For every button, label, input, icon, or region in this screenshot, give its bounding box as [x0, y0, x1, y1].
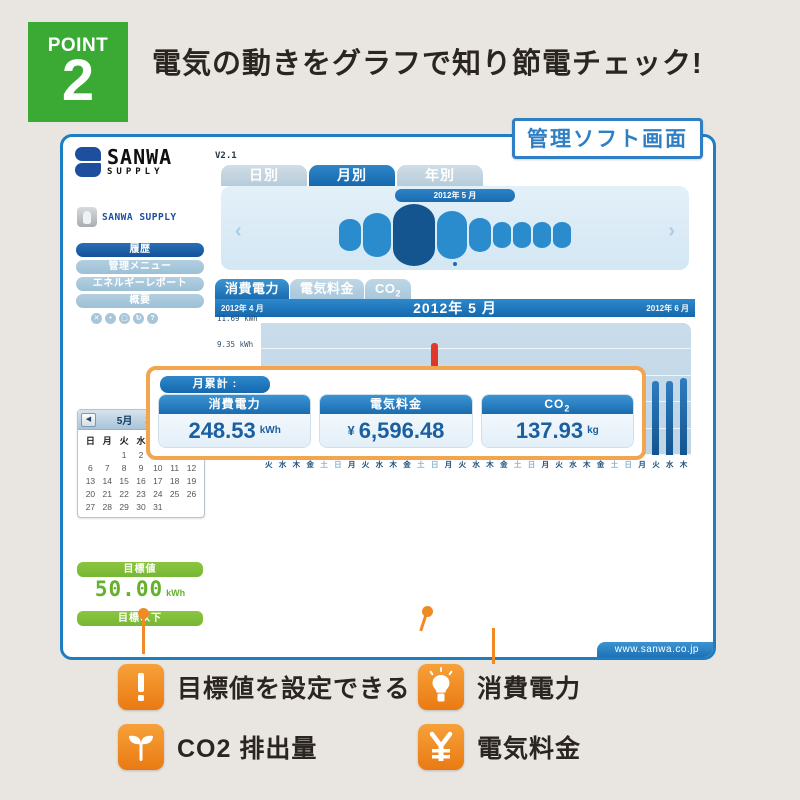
calendar-day-cell[interactable]: 17 — [149, 474, 166, 487]
refresh-icon[interactable]: ↻ — [133, 313, 144, 324]
connector-dot-goal — [138, 608, 149, 619]
graph-metric-tabs: 消費電力 電気料金 CO2 — [215, 279, 695, 299]
summary-cards: 消費電力 248.53 kWh 電気料金 ¥ 6,596.48 CO2 137.… — [158, 394, 634, 448]
summary-card-co2-body: 137.93 kg — [482, 414, 633, 447]
legend-row-1: 目標値を設定できる 消費電力 — [118, 664, 688, 710]
tab-electricity-cost[interactable]: 電気料金 — [290, 279, 364, 299]
summary-card-cost: 電気料金 ¥ 6,596.48 — [319, 394, 472, 448]
graph-month-header: 2012年 4 月 2012年 5 月 2012年 6 月 — [215, 299, 695, 317]
monthly-summary-panel: 月累計 : 消費電力 248.53 kWh 電気料金 ¥ 6,596.48 CO… — [146, 366, 646, 460]
calendar-day-cell[interactable]: 11 — [166, 461, 183, 474]
legend-row-2: CO2 排出量 電気料金 — [118, 724, 688, 770]
chart-x-tick-label: 金 — [306, 459, 313, 473]
chart-x-tick-label: 火 — [652, 459, 659, 473]
chart-x-tick-label: 日 — [625, 459, 632, 473]
legend-label-cost: 電気料金 — [477, 729, 581, 765]
legend-item-goal: 目標値を設定できる — [118, 664, 418, 710]
chart-x-tick-label: 水 — [569, 459, 576, 473]
tab-monthly[interactable]: 月別 — [309, 165, 395, 186]
month-blob[interactable] — [469, 218, 491, 252]
legend-item-cost: 電気料金 — [418, 724, 688, 770]
calendar-day-cell[interactable]: 9 — [133, 461, 150, 474]
yen-icon: ¥ — [348, 423, 355, 438]
settings-icon[interactable]: • — [105, 313, 116, 324]
graph-prev-month[interactable]: 2012年 4 月 — [221, 303, 264, 314]
app-version: V2.1 — [215, 151, 237, 161]
summary-power-unit: kWh — [260, 425, 281, 436]
chart-x-tick-label: 土 — [320, 459, 327, 473]
sidebar-item-energy-report[interactable]: エネルギーレポート — [76, 277, 204, 291]
sidebar-item-overview[interactable]: 概要 — [76, 294, 204, 308]
calendar-day-cell[interactable]: 13 — [82, 474, 99, 487]
calendar-day-cell[interactable]: 15 — [116, 474, 133, 487]
brand-name: SANWA — [107, 147, 172, 167]
calendar-day-cell[interactable]: 18 — [166, 474, 183, 487]
selected-month-pill: 2012年 5 月 — [395, 189, 515, 202]
sidebar-item-admin-menu[interactable]: 管理メニュー — [76, 260, 204, 274]
chart-x-axis: 火水木金土日月火水木金土日月火水木金土日月火水木金土日月火水木 — [261, 459, 691, 473]
summary-card-cost-title: 電気料金 — [320, 395, 471, 414]
calendar-day-cell[interactable]: 10 — [149, 461, 166, 474]
page-title: 電気の動きをグラフで知り節電チェック! — [152, 40, 703, 82]
point-badge-number: 2 — [28, 53, 128, 108]
calendar-day-cell[interactable]: 25 — [166, 487, 183, 500]
calendar-day-cell[interactable]: 29 — [116, 500, 133, 513]
month-blob-row[interactable] — [221, 204, 689, 266]
calendar-day-cell[interactable]: 21 — [99, 487, 116, 500]
chart-x-tick-label: 木 — [293, 459, 300, 473]
calendar-day-cell[interactable]: 14 — [99, 474, 116, 487]
sidebar-nav: 履歴 管理メニュー エネルギーレポート 概要 — [76, 243, 204, 311]
calendar-day-cell[interactable]: 31 — [149, 500, 166, 513]
calendar-week-row: 20212223242526 — [82, 487, 200, 500]
month-blob[interactable] — [553, 222, 571, 248]
chart-bar[interactable] — [666, 381, 673, 455]
chart-x-tick-label: 月 — [445, 459, 452, 473]
calendar-day-cell — [82, 448, 99, 461]
graph-current-month: 2012年 5 月 — [413, 298, 497, 318]
chart-x-tick-label: 日 — [431, 459, 438, 473]
calendar-day-cell[interactable]: 6 — [82, 461, 99, 474]
calendar-day-cell[interactable]: 8 — [116, 461, 133, 474]
summary-card-power: 消費電力 248.53 kWh — [158, 394, 311, 448]
software-screen-badge: 管理ソフト画面 — [512, 118, 703, 159]
calendar-prev-button[interactable]: ◀ — [81, 413, 96, 427]
chart-x-tick-label: 木 — [389, 459, 396, 473]
legend-item-power: 消費電力 — [418, 664, 688, 710]
chart-x-tick-label: 月 — [542, 459, 549, 473]
legend-label-co2: CO2 排出量 — [177, 729, 317, 765]
chart-x-tick-label: 火 — [362, 459, 369, 473]
selected-month-dot — [453, 262, 457, 266]
calendar-day-cell — [166, 500, 183, 513]
calendar-day-cell[interactable]: 1 — [116, 448, 133, 461]
sanwa-logo: SANWA SUPPLY — [75, 147, 215, 177]
summary-card-co2: CO2 137.93 kg — [481, 394, 634, 448]
chart-x-tick-label: 水 — [279, 459, 286, 473]
calendar-day-cell — [99, 448, 116, 461]
user-account: SANWA SUPPLY — [77, 207, 177, 227]
calendar-week-row: 2728293031 — [82, 500, 200, 513]
calendar-day-cell[interactable]: 30 — [133, 500, 150, 513]
chart-bar[interactable] — [680, 378, 687, 455]
summary-tag: 月累計 : — [160, 376, 270, 393]
calendar-weekday: 月 — [99, 433, 116, 448]
calendar-day-cell[interactable]: 23 — [133, 487, 150, 500]
chart-x-tick-label: 金 — [403, 459, 410, 473]
month-blob[interactable] — [493, 222, 511, 248]
calendar-day-cell — [183, 500, 200, 513]
chart-bar[interactable] — [652, 381, 659, 455]
point-badge: POINT 2 — [28, 22, 128, 122]
chart-x-tick-label: 月 — [638, 459, 645, 473]
chart-x-tick-label: 金 — [597, 459, 604, 473]
summary-co2-unit: kg — [587, 425, 599, 436]
window-icon[interactable]: ▢ — [119, 313, 130, 324]
chart-x-tick-label: 日 — [334, 459, 341, 473]
chart-x-tick-label: 火 — [459, 459, 466, 473]
period-tabs: 日別 月別 年別 — [221, 165, 485, 186]
chart-y-tick-label: 11.69 kWh — [217, 314, 258, 323]
month-blob[interactable] — [533, 222, 551, 248]
chart-x-tick-label: 金 — [500, 459, 507, 473]
calendar-week-row: 6789101112 — [82, 461, 200, 474]
summary-card-cost-body: ¥ 6,596.48 — [320, 414, 471, 447]
month-blob[interactable] — [513, 222, 531, 248]
calendar-day-cell[interactable]: 20 — [82, 487, 99, 500]
goal-unit: kWh — [166, 588, 185, 598]
calendar-week-row: 13141516171819 — [82, 474, 200, 487]
sprout-icon — [118, 724, 164, 770]
calendar-month: 5月 — [117, 412, 133, 427]
chart-x-tick-label: 土 — [514, 459, 521, 473]
calendar-day-cell[interactable]: 28 — [99, 500, 116, 513]
yen-icon — [418, 724, 464, 770]
tab-yearly[interactable]: 年別 — [397, 165, 483, 186]
tab-daily[interactable]: 日別 — [221, 165, 307, 186]
calendar-day-cell[interactable]: 26 — [183, 487, 200, 500]
calendar-weekday: 火 — [116, 433, 133, 448]
goal-value-row: 50.00 kWh — [77, 577, 203, 611]
chart-x-tick-label: 水 — [666, 459, 673, 473]
chart-x-tick-label: 水 — [376, 459, 383, 473]
graph-next-month[interactable]: 2012年 6 月 — [646, 303, 689, 314]
summary-card-co2-title: CO2 — [482, 395, 633, 414]
exclamation-icon — [118, 664, 164, 710]
calendar-day-cell[interactable]: 22 — [116, 487, 133, 500]
close-icon[interactable]: ✕ — [91, 313, 102, 324]
connector-line-power-2 — [492, 628, 495, 664]
help-icon[interactable]: ? — [147, 313, 158, 324]
legend-item-co2: CO2 排出量 — [118, 724, 418, 770]
chart-x-tick-label: 木 — [680, 459, 687, 473]
calendar-day-cell[interactable]: 12 — [183, 461, 200, 474]
calendar-day-cell[interactable]: 16 — [133, 474, 150, 487]
chart-x-tick-label: 火 — [265, 459, 272, 473]
chart-y-tick-label: 9.35 kWh — [217, 340, 253, 349]
chart-x-tick-label: 火 — [555, 459, 562, 473]
sidebar-item-history[interactable]: 履歴 — [76, 243, 204, 257]
chart-x-tick-label: 日 — [528, 459, 535, 473]
summary-co2-value: 137.93 — [516, 418, 583, 444]
summary-cost-value: 6,596.48 — [359, 418, 445, 444]
goal-title: 目標値 — [77, 562, 203, 577]
month-blob[interactable] — [339, 219, 361, 251]
tab-co2[interactable]: CO2 — [365, 279, 411, 299]
user-name: SANWA SUPPLY — [102, 212, 177, 223]
summary-power-value: 248.53 — [188, 418, 255, 444]
chart-x-tick-label: 木 — [486, 459, 493, 473]
calendar-weekday: 日 — [82, 433, 99, 448]
user-avatar-icon — [77, 207, 97, 227]
month-blob[interactable] — [437, 211, 467, 259]
chart-x-tick-label: 土 — [417, 459, 424, 473]
chart-x-tick-label: 月 — [348, 459, 355, 473]
calendar-day-cell[interactable]: 19 — [183, 474, 200, 487]
lightbulb-icon — [418, 664, 464, 710]
calendar-day-cell[interactable]: 24 — [149, 487, 166, 500]
calendar-day-cell[interactable]: 7 — [99, 461, 116, 474]
summary-card-power-title: 消費電力 — [159, 395, 310, 414]
tab-power-consumption[interactable]: 消費電力 — [215, 279, 289, 299]
sanwa-logo-mark — [75, 147, 102, 177]
calendar-day-cell[interactable]: 27 — [82, 500, 99, 513]
chart-x-tick-label: 木 — [583, 459, 590, 473]
summary-card-power-body: 248.53 kWh — [159, 414, 310, 447]
goal-value: 50.00 — [95, 577, 163, 601]
connector-dot-power — [422, 606, 433, 617]
legend-label-power: 消費電力 — [477, 669, 581, 705]
footer-url[interactable]: www.sanwa.co.jp — [597, 642, 713, 657]
legend-label-goal: 目標値を設定できる — [177, 669, 411, 705]
month-selector[interactable]: 2012年 5 月 ‹ › — [221, 186, 689, 270]
legend: 目標値を設定できる 消費電力 — [118, 664, 688, 784]
brand-subtitle: SUPPLY — [107, 168, 172, 177]
month-blob[interactable] — [363, 213, 391, 257]
month-blob[interactable] — [393, 204, 435, 266]
chart-x-tick-label: 土 — [611, 459, 618, 473]
sidebar-tool-icons: ✕ • ▢ ↻ ? — [91, 313, 158, 324]
chart-x-tick-label: 水 — [472, 459, 479, 473]
